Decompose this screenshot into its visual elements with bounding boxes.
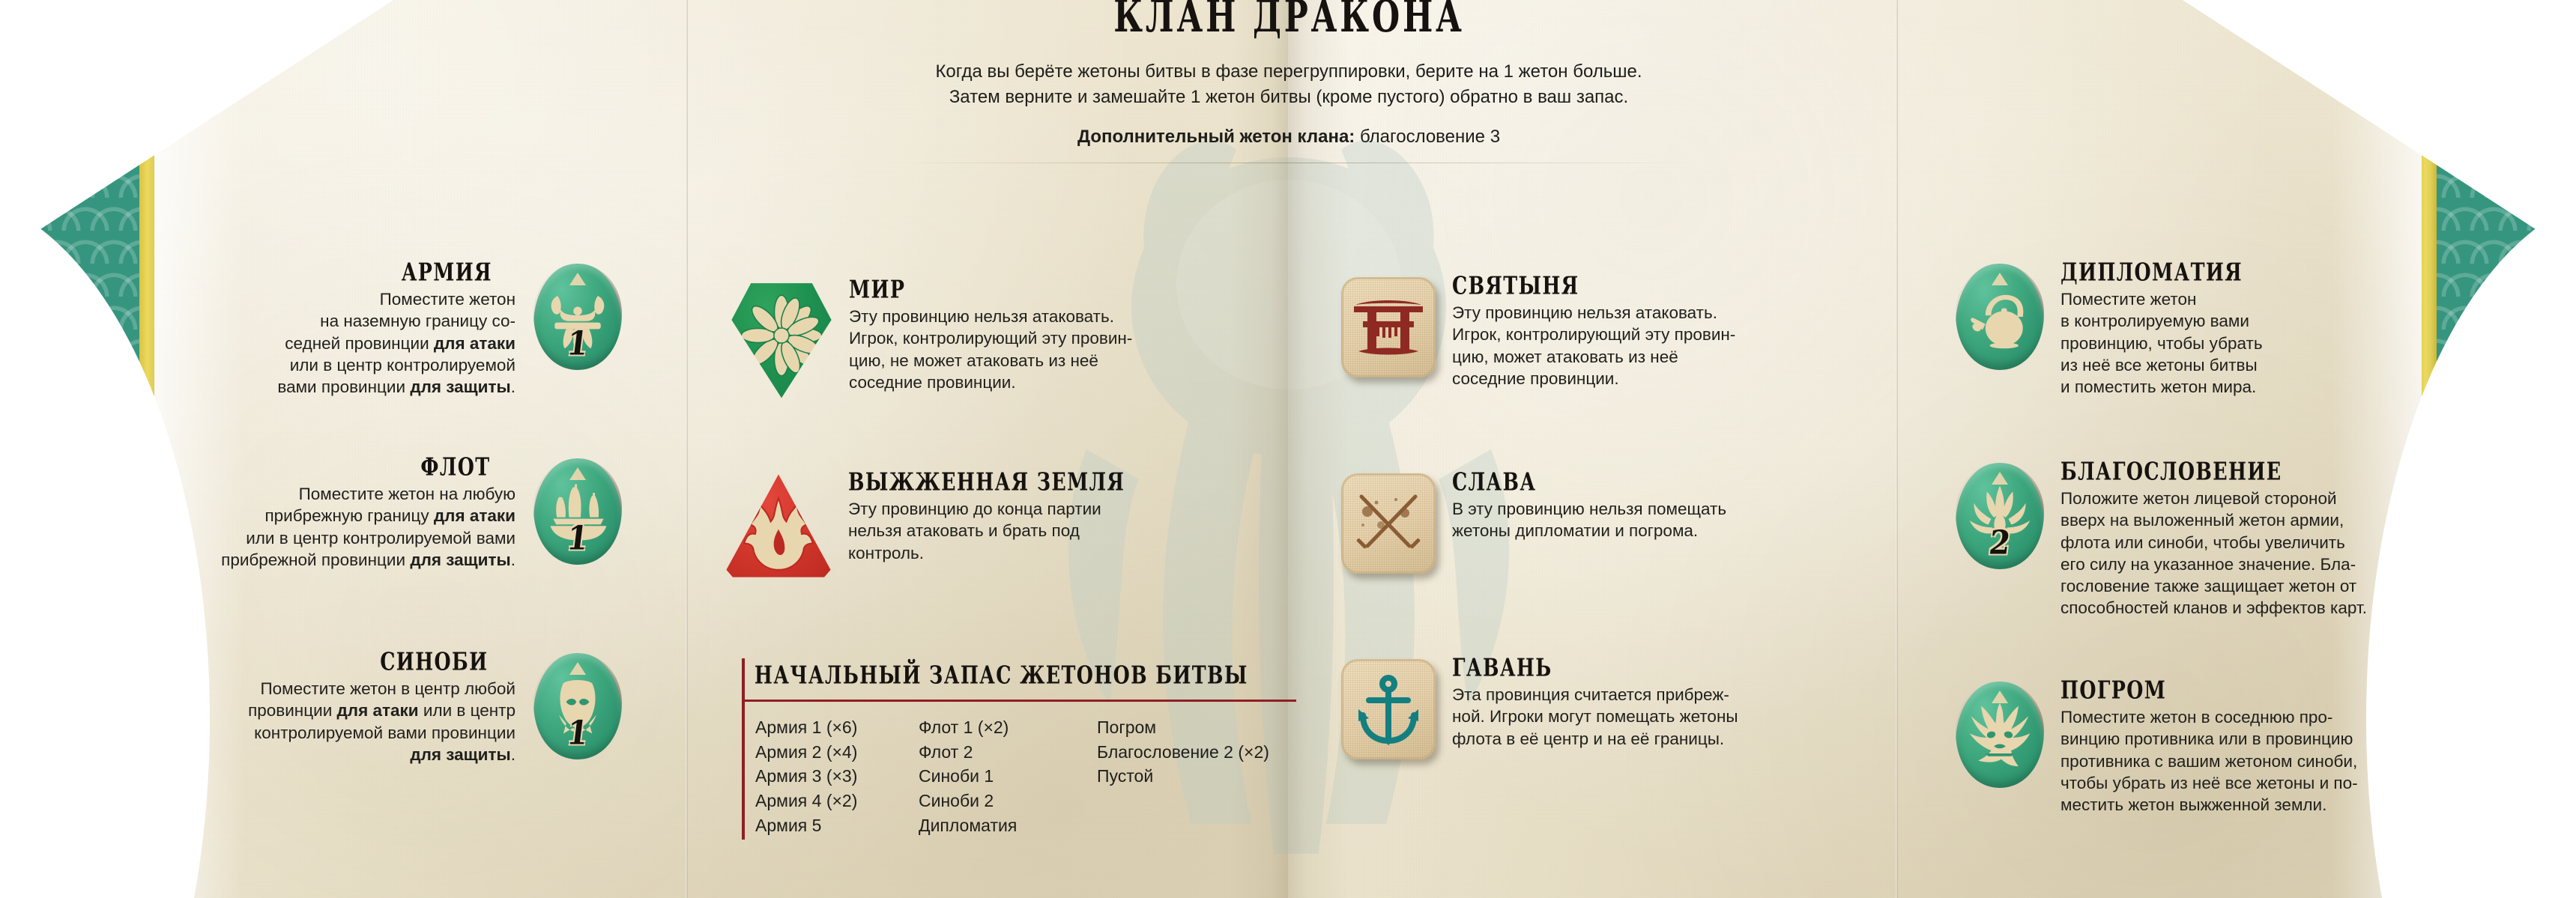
supply-list: ПогромБлагословение 2 (×2)Пустой (1097, 715, 1269, 789)
supply-list-item: Армия 1 (×6) (755, 715, 919, 740)
supply-list-item: Благословение 2 (×2) (1097, 740, 1269, 765)
supply-list-item: Синоби 1 (919, 764, 1097, 789)
supply-column-1: Армия 1 (×6)Армия 2 (×4)Армия 3 (×3)Арми… (755, 715, 919, 837)
token-peace (731, 281, 832, 399)
entry-scorched-earth-description: Эту провинцию до конца партиинельзя атак… (848, 498, 1325, 564)
entry-glory-description: В эту провинцию нельзя помещатьжетоны ди… (1452, 498, 1896, 542)
entry-shrine-description: Эту провинцию нельзя атаковать.Игрок, ко… (1452, 302, 1896, 389)
droplet-token-body: 2 (1956, 463, 2044, 569)
entry-diplomacy-text-block: Дипломатия Поместите жетонв контролируем… (2044, 264, 2480, 398)
entry-shrine-text-block: Святыня Эту провинцию нельзя атаковать.И… (1436, 277, 1896, 389)
token-army: 1 (533, 264, 622, 370)
entry-glory: Слава В эту провинцию нельзя помещатьжет… (1341, 473, 1896, 574)
sheet-header: Клан Дракона Когда вы берёте жетоны битв… (764, 4, 1813, 163)
entry-shrine-title: Святыня (1452, 272, 1869, 300)
token-diplomacy (1956, 264, 2044, 370)
entry-harbor-title: Гавань (1452, 654, 1869, 682)
supply-left-rule (742, 658, 745, 840)
token-pogrom (1956, 682, 2044, 788)
supply-column-3: ПогромБлагословение 2 (×2)Пустой (1097, 715, 1269, 837)
supply-list-item: Пустой (1097, 764, 1269, 789)
droplet-token-body (1956, 264, 2044, 370)
entry-peace-text-block: Мир Эту провинцию нельзя атаковать.Игрок… (832, 281, 1278, 393)
entry-diplomacy-title: Дипломатия (2061, 258, 2455, 287)
entry-harbor: Гавань Эта провинция считается прибреж-н… (1341, 659, 1896, 759)
wooden-token-body (1341, 473, 1436, 574)
entry-shrine: Святыня Эту провинцию нельзя атаковать.И… (1341, 277, 1896, 389)
clan-ability-line-1: Когда вы берёте жетоны битвы в фазе пере… (764, 59, 1813, 85)
token-scorched-earth (725, 473, 832, 578)
entry-army: Армия Поместите жетонна наземную границу… (127, 264, 622, 398)
entry-scorched-earth: Выжженная земля Эту провинцию до конца п… (725, 473, 1325, 578)
header-divider (880, 163, 1697, 163)
entry-army-description: Поместите жетонна наземную границу со-се… (127, 288, 515, 398)
wooden-token-body (1341, 659, 1436, 759)
entry-glory-text-block: Слава В эту провинцию нельзя помещатьжет… (1436, 473, 1896, 542)
chrysanthemum-flower-icon (740, 294, 823, 377)
supply-top-rule (742, 700, 1296, 702)
triangle-token-body (725, 473, 832, 578)
starting-supply-rules (742, 697, 1296, 705)
torii-gate-icon (1351, 290, 1426, 365)
token-fleet: 1 (533, 458, 622, 565)
token-shinobi: 1 (533, 653, 622, 759)
entry-peace-title: Мир (849, 276, 1252, 304)
extra-clan-token-row: Дополнительный жетон клана: благословени… (764, 127, 1813, 148)
supply-list-item: Флот 2 (919, 740, 1097, 765)
entry-harbor-description: Эта провинция считается прибреж-ной. Игр… (1452, 684, 1896, 750)
supply-list-item: Армия 4 (×2) (755, 789, 919, 813)
token-shrine (1341, 277, 1436, 377)
starting-supply-columns: Армия 1 (×6)Армия 2 (×4)Армия 3 (×3)Арми… (742, 715, 1296, 837)
entry-peace: Мир Эту провинцию нельзя атаковать.Игрок… (731, 281, 1278, 399)
supply-list-item: Армия 5 (755, 813, 919, 838)
entry-peace-description: Эту провинцию нельзя атаковать.Игрок, ко… (849, 306, 1278, 393)
token-glory (1341, 473, 1436, 574)
starting-supply-title: Начальный запас жетонов битвы (742, 661, 1263, 690)
entry-diplomacy: Дипломатия Поместите жетонв контролируем… (1956, 264, 2480, 398)
clan-ability-text: Когда вы берёте жетоны битвы в фазе пере… (764, 59, 1813, 110)
supply-list-item: Армия 2 (×4) (755, 740, 919, 765)
clan-reference-sheet: Клан Дракона Когда вы берёте жетоны битв… (0, 0, 2576, 898)
oni-demon-mask-icon (1964, 699, 2036, 771)
entry-harbor-text-block: Гавань Эта провинция считается прибреж-н… (1436, 659, 1896, 750)
droplet-token-body: 1 (533, 264, 622, 370)
droplet-token-body: 1 (533, 458, 622, 565)
supply-list-item: Дипломатия (919, 813, 1097, 838)
wooden-token-body (1341, 277, 1436, 377)
supply-list: Флот 1 (×2)Флот 2Синоби 1Синоби 2Диплома… (919, 715, 1097, 837)
entry-army-text-block: Армия Поместите жетонна наземную границу… (127, 264, 533, 398)
token-blessing-value: 2 (1987, 524, 2013, 562)
page-title: Клан Дракона (1113, 0, 1465, 43)
supply-list-item: Синоби 2 (919, 789, 1097, 813)
entry-scorched-earth-text-block: Выжженная земля Эту провинцию до конца п… (832, 473, 1325, 564)
token-blessing: 2 (1956, 463, 2044, 569)
flame-icon (740, 495, 817, 573)
token-fleet-value: 1 (565, 519, 590, 558)
entry-glory-title: Слава (1452, 468, 1869, 497)
anchor-icon (1351, 672, 1426, 747)
entry-army-title: Армия (127, 258, 492, 287)
extra-clan-token-value: благословение 3 (1360, 127, 1500, 147)
supply-column-2: Флот 1 (×2)Флот 2Синоби 1Синоби 2Диплома… (919, 715, 1097, 837)
token-shinobi-value: 1 (565, 714, 590, 753)
token-harbor (1341, 659, 1436, 759)
droplet-token-body: 1 (533, 653, 622, 759)
entry-diplomacy-description: Поместите жетонв контролируемую вамипров… (2061, 288, 2480, 398)
extra-clan-token-label: Дополнительный жетон клана: (1077, 127, 1355, 147)
supply-list: Армия 1 (×6)Армия 2 (×4)Армия 3 (×3)Арми… (755, 715, 919, 837)
supply-list-item: Погром (1097, 715, 1269, 740)
crossed-swords-icon (1351, 486, 1426, 561)
entry-scorched-earth-title: Выжженная земля (848, 468, 1296, 497)
clan-ability-line-2: Затем верните и замешайте 1 жетон битвы … (764, 85, 1813, 110)
supply-list-item: Армия 3 (×3) (755, 764, 919, 789)
pentagon-token-body (731, 281, 832, 399)
token-army-value: 1 (565, 324, 590, 363)
supply-list-item: Флот 1 (×2) (919, 715, 1097, 740)
teapot-icon (1964, 281, 2036, 353)
droplet-token-body (1956, 682, 2044, 788)
starting-supply-box: Начальный запас жетонов битвы Армия 1 (×… (742, 667, 1296, 837)
